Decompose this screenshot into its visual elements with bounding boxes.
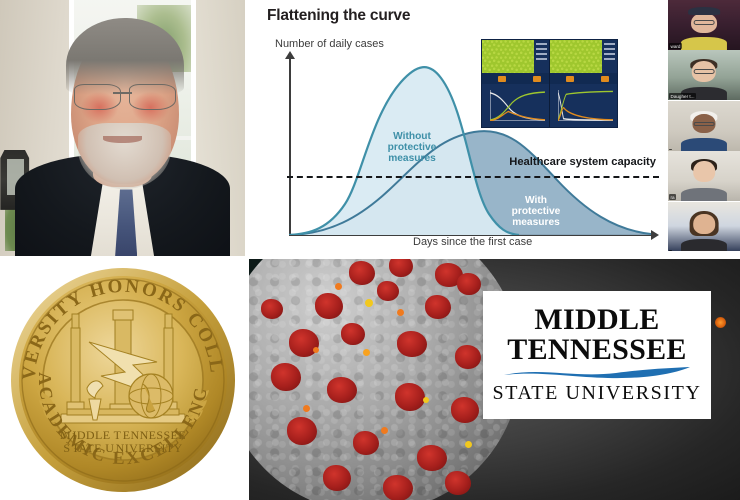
spike-protein xyxy=(445,471,471,495)
membrane-protein-dot xyxy=(423,397,429,403)
portrait-photo xyxy=(0,0,245,256)
membrane-protein-dot xyxy=(397,309,404,316)
video-tile-participant-3[interactable] xyxy=(668,101,740,151)
eyeglasses-icon xyxy=(694,20,715,25)
participant-name-label: ward xyxy=(669,43,682,49)
sim-plot xyxy=(482,84,549,127)
background-glow-dot xyxy=(715,317,726,328)
video-tile-participant-5[interactable] xyxy=(668,202,740,251)
eyeglasses-icon xyxy=(694,122,715,127)
sim-plot-curves xyxy=(558,90,613,122)
eyeglasses-icon xyxy=(74,84,177,107)
membrane-protein-dot xyxy=(363,349,370,356)
participant-body xyxy=(681,239,727,251)
spike-protein xyxy=(377,281,399,301)
sim-agent-grid xyxy=(482,40,534,73)
video-tile-participant-1[interactable]: ward xyxy=(668,0,740,50)
membrane-protein-dot xyxy=(381,427,388,434)
sim-panel-right xyxy=(550,40,617,127)
seal-inner-text-line2: S TATE U NIVERSITY xyxy=(63,441,182,455)
participant-name-label xyxy=(669,250,672,251)
sim-legend xyxy=(534,40,549,73)
sim-agent-grid xyxy=(550,40,602,73)
coronavirus-image: MIDDLE TENNESSEE STATE UNIVERSITY xyxy=(249,259,740,500)
spike-protein xyxy=(455,345,481,369)
seal-graphic: UNIVERSITY HONORS COLLEGE ACADEMIC EXCEL… xyxy=(9,266,237,494)
spike-protein xyxy=(261,299,283,319)
mtsu-logo-line1: MIDDLE xyxy=(534,305,659,334)
eyeglasses-icon xyxy=(694,69,715,74)
sim-plot xyxy=(550,84,617,127)
spike-protein xyxy=(349,261,375,285)
video-tile-participant-4[interactable]: ra xyxy=(668,151,740,201)
baseball-cap xyxy=(688,7,720,15)
sim-total-value xyxy=(566,76,574,82)
image-collage: Flattening the curve Number of daily cas… xyxy=(0,0,740,500)
participant-body xyxy=(681,37,727,50)
spike-protein xyxy=(315,293,343,319)
mtsu-logo-line2: TENNESSEE xyxy=(507,335,686,365)
honors-college-seal: UNIVERSITY HONORS COLLEGE ACADEMIC EXCEL… xyxy=(0,259,245,500)
spike-protein xyxy=(287,417,317,445)
sim-proportion-value xyxy=(601,76,609,82)
label-without-protective-measures: Withoutprotectivemeasures xyxy=(375,131,449,164)
sim-total-value xyxy=(498,76,506,82)
spike-protein xyxy=(397,331,427,357)
healthcare-capacity-line xyxy=(287,176,659,178)
spike-protein xyxy=(383,475,413,500)
participant-name-label: ra xyxy=(669,194,676,200)
spike-protein xyxy=(457,273,481,295)
sim-proportion-value xyxy=(533,76,541,82)
sim-legend xyxy=(602,40,617,73)
spike-protein xyxy=(271,363,301,391)
spike-protein xyxy=(451,397,479,423)
spike-protein xyxy=(323,465,351,491)
membrane-protein-dot xyxy=(335,283,342,290)
membrane-protein-dot xyxy=(365,299,373,307)
spike-protein xyxy=(425,295,451,319)
participant-body xyxy=(681,188,727,201)
healthcare-capacity-label: Healthcare system capacity xyxy=(509,156,656,168)
membrane-protein-dot xyxy=(313,347,319,353)
flatten-the-curve-chart: Flattening the curve Number of daily cas… xyxy=(249,0,664,256)
participant-name-label xyxy=(669,149,672,150)
simulation-inset xyxy=(481,39,618,128)
participant-name-label: Daugher t... xyxy=(669,93,696,99)
mtsu-logo-line3: STATE UNIVERSITY xyxy=(493,382,702,405)
sim-panel-left xyxy=(482,40,550,127)
spike-protein xyxy=(341,323,365,345)
spike-protein xyxy=(395,383,425,411)
eyeglasses-bridge xyxy=(113,92,133,93)
spike-protein xyxy=(417,445,447,471)
membrane-protein-dot xyxy=(465,441,472,448)
video-tile-participant-2[interactable]: Daugher t... xyxy=(668,50,740,100)
label-with-protective-measures: Withprotectivemeasures xyxy=(498,195,574,228)
chart-x-axis-label: Days since the first case xyxy=(413,236,532,248)
participant-face xyxy=(693,214,715,234)
seal-inner-text-line1: M IDDLE T ENNESSEE xyxy=(60,428,186,442)
seal-globe xyxy=(129,374,173,418)
sim-plot-curves xyxy=(490,90,545,122)
spike-protein xyxy=(353,431,379,455)
chart-title: Flattening the curve xyxy=(267,7,410,25)
chart-y-axis-label: Number of daily cases xyxy=(275,38,384,50)
participant-face xyxy=(693,161,715,182)
membrane-protein-dot xyxy=(303,405,310,412)
participant-body xyxy=(681,138,727,151)
video-call-grid: ward Daugher t... ra xyxy=(668,0,740,251)
mtsu-swoosh-icon xyxy=(504,366,690,379)
spike-protein xyxy=(327,377,357,403)
mtsu-logo: MIDDLE TENNESSEE STATE UNIVERSITY xyxy=(483,291,711,419)
